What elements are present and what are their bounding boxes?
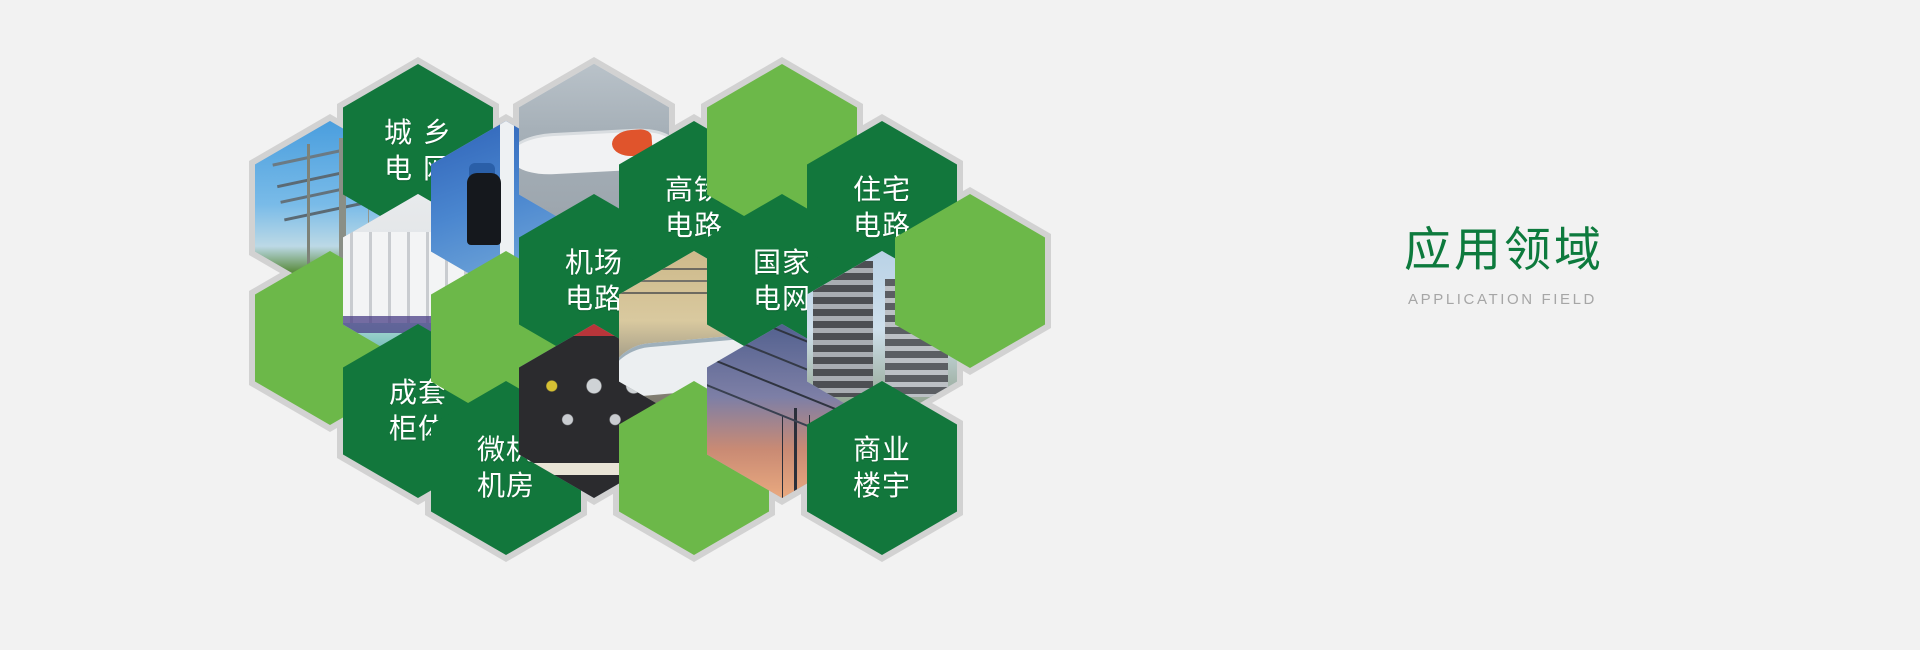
hex-label: 机场 电路 (565, 245, 623, 317)
page-title: 应用领域 (1404, 225, 1824, 277)
honeycomb-diagram: 城 乡 电 网 成套 柜体 微机 机房 机场 电路 (0, 0, 1200, 650)
title-block: 应用领域 APPLICATION FIELD (1404, 225, 1824, 308)
hex-label: 商业 楼宇 (853, 432, 911, 504)
page-subtitle: APPLICATION FIELD (1408, 291, 1824, 308)
hex-label: 国家 电网 (753, 245, 811, 317)
banner-stage: 城 乡 电 网 成套 柜体 微机 机房 机场 电路 (0, 0, 1920, 650)
hex-label: 住宅 电路 (853, 172, 911, 244)
